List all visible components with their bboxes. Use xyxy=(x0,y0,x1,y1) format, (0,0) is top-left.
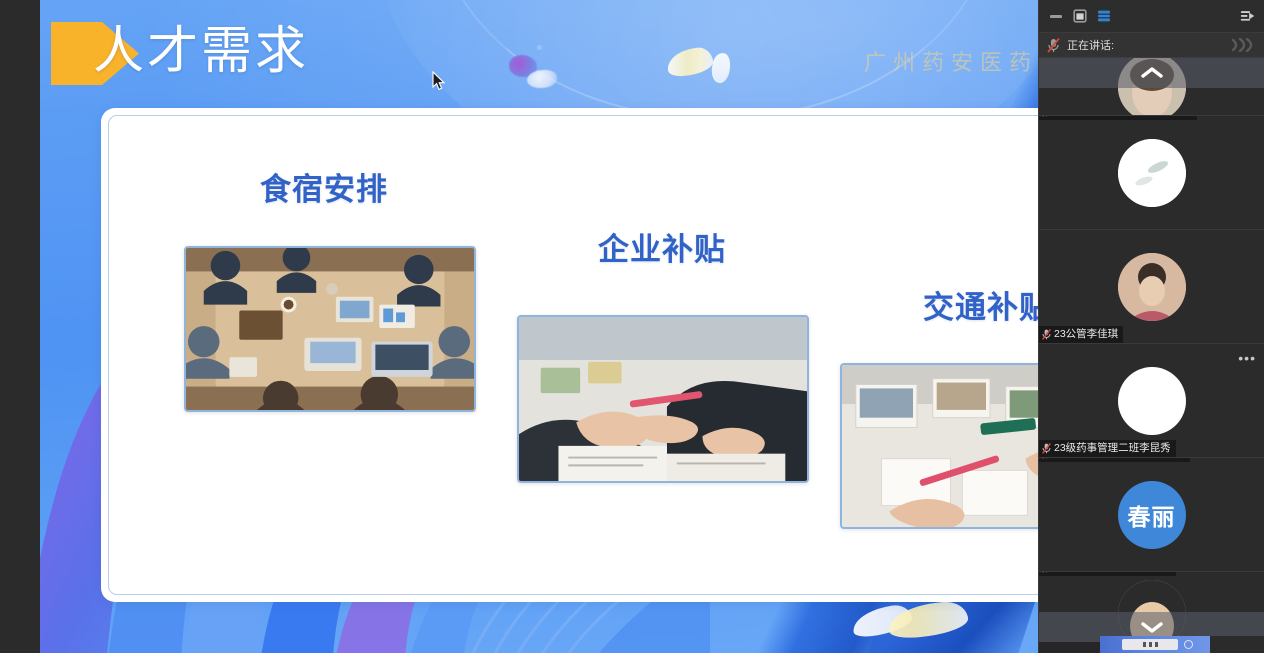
shared-screen-area[interactable]: 人才需求 广州药安医药 食宿安排 企业补贴 交通补贴 xyxy=(40,0,1038,653)
taskbar[interactable] xyxy=(1100,636,1264,653)
heading-transport-subsidy: 交通补贴 xyxy=(923,282,1038,327)
restore-window-icon[interactable] xyxy=(1072,9,1087,24)
avatar xyxy=(1118,253,1186,321)
participant-tile[interactable]: ••• 23级药事管理二班李昆秀 xyxy=(1039,344,1264,458)
participant-nametag: 23级药事管理一班何春丽 xyxy=(1039,572,1176,576)
participant-tile-list[interactable]: 23级健康服务与管理班李宇航 xyxy=(1039,58,1264,653)
avatar xyxy=(1118,367,1186,435)
screen: 人才需求 广州药安医药 食宿安排 企业补贴 交通补贴 xyxy=(0,0,1264,653)
mic-muted-icon xyxy=(1042,443,1051,454)
avatar xyxy=(1118,139,1186,207)
avatar: 春丽 xyxy=(1118,481,1186,549)
participant-name: 23级药事管理一班何春丽 xyxy=(1054,572,1171,575)
photo-company-subsidy xyxy=(517,315,809,483)
photo-transport-subsidy xyxy=(840,363,1038,529)
active-speaker-bar: 正在讲话: xyxy=(1039,33,1264,58)
avatar-initials: 春丽 xyxy=(1128,498,1176,532)
participant-nametag: 23级药事管理二班李昆秀 xyxy=(1039,440,1176,457)
decorative-dot xyxy=(537,45,542,50)
window-controls xyxy=(1048,9,1111,24)
participant-tile[interactable]: 23公管李佳琪 xyxy=(1039,230,1264,344)
brand-watermark: 广州药安医药 xyxy=(864,45,1038,77)
participant-more-menu-icon[interactable]: ••• xyxy=(1238,353,1256,363)
participant-name: 23级公共事业管理范丹阳 xyxy=(1054,458,1171,461)
heading-company-subsidy: 企业补贴 xyxy=(598,224,726,269)
participant-tile[interactable]: 23级健康服务与管理班李宇航 xyxy=(1039,116,1264,230)
mic-muted-icon xyxy=(1047,38,1060,53)
slide-title: 人才需求 xyxy=(93,15,309,89)
taskbar-pill[interactable] xyxy=(1122,639,1178,650)
heading-accommodation: 食宿安排 xyxy=(260,164,388,209)
participant-tile[interactable]: 23级药事管理一班何春丽 xyxy=(1039,572,1264,642)
sound-wave-icon xyxy=(1230,38,1256,52)
taskbar-icon[interactable] xyxy=(1143,642,1146,647)
mic-muted-icon xyxy=(1042,458,1051,459)
mic-muted-icon xyxy=(1042,329,1051,340)
scroll-up-chevron[interactable] xyxy=(1039,58,1264,88)
participant-tile[interactable]: 春丽 23级公共事业管理范丹阳 xyxy=(1039,458,1264,572)
taskbar-icon[interactable] xyxy=(1155,642,1158,647)
participant-name: 23级健康服务与管理班李宇航 xyxy=(1054,116,1192,119)
participant-name: 23公管李佳琪 xyxy=(1054,327,1118,342)
mic-muted-icon xyxy=(1042,116,1051,117)
layout-stack-icon[interactable] xyxy=(1096,9,1111,24)
taskbar-circle-icon[interactable] xyxy=(1184,640,1193,649)
participant-nametag: 23级健康服务与管理班李宇航 xyxy=(1039,116,1197,120)
photo-accommodation xyxy=(184,246,476,412)
mic-muted-icon xyxy=(1042,572,1051,573)
collapse-panel-icon[interactable] xyxy=(1240,9,1255,24)
minimize-icon[interactable] xyxy=(1048,9,1063,24)
participant-nametag: 23级公共事业管理范丹阳 xyxy=(1039,458,1190,462)
participant-panel: 正在讲话: xyxy=(1038,0,1264,653)
mouse-cursor xyxy=(432,71,446,91)
participant-tile[interactable] xyxy=(1039,58,1264,116)
taskbar-icon[interactable] xyxy=(1149,642,1152,647)
participant-nametag: 23公管李佳琪 xyxy=(1039,326,1123,343)
active-speaker-label: 正在讲话: xyxy=(1067,37,1114,53)
panel-titlebar xyxy=(1039,0,1264,33)
participant-name: 23级药事管理二班李昆秀 xyxy=(1054,441,1171,456)
